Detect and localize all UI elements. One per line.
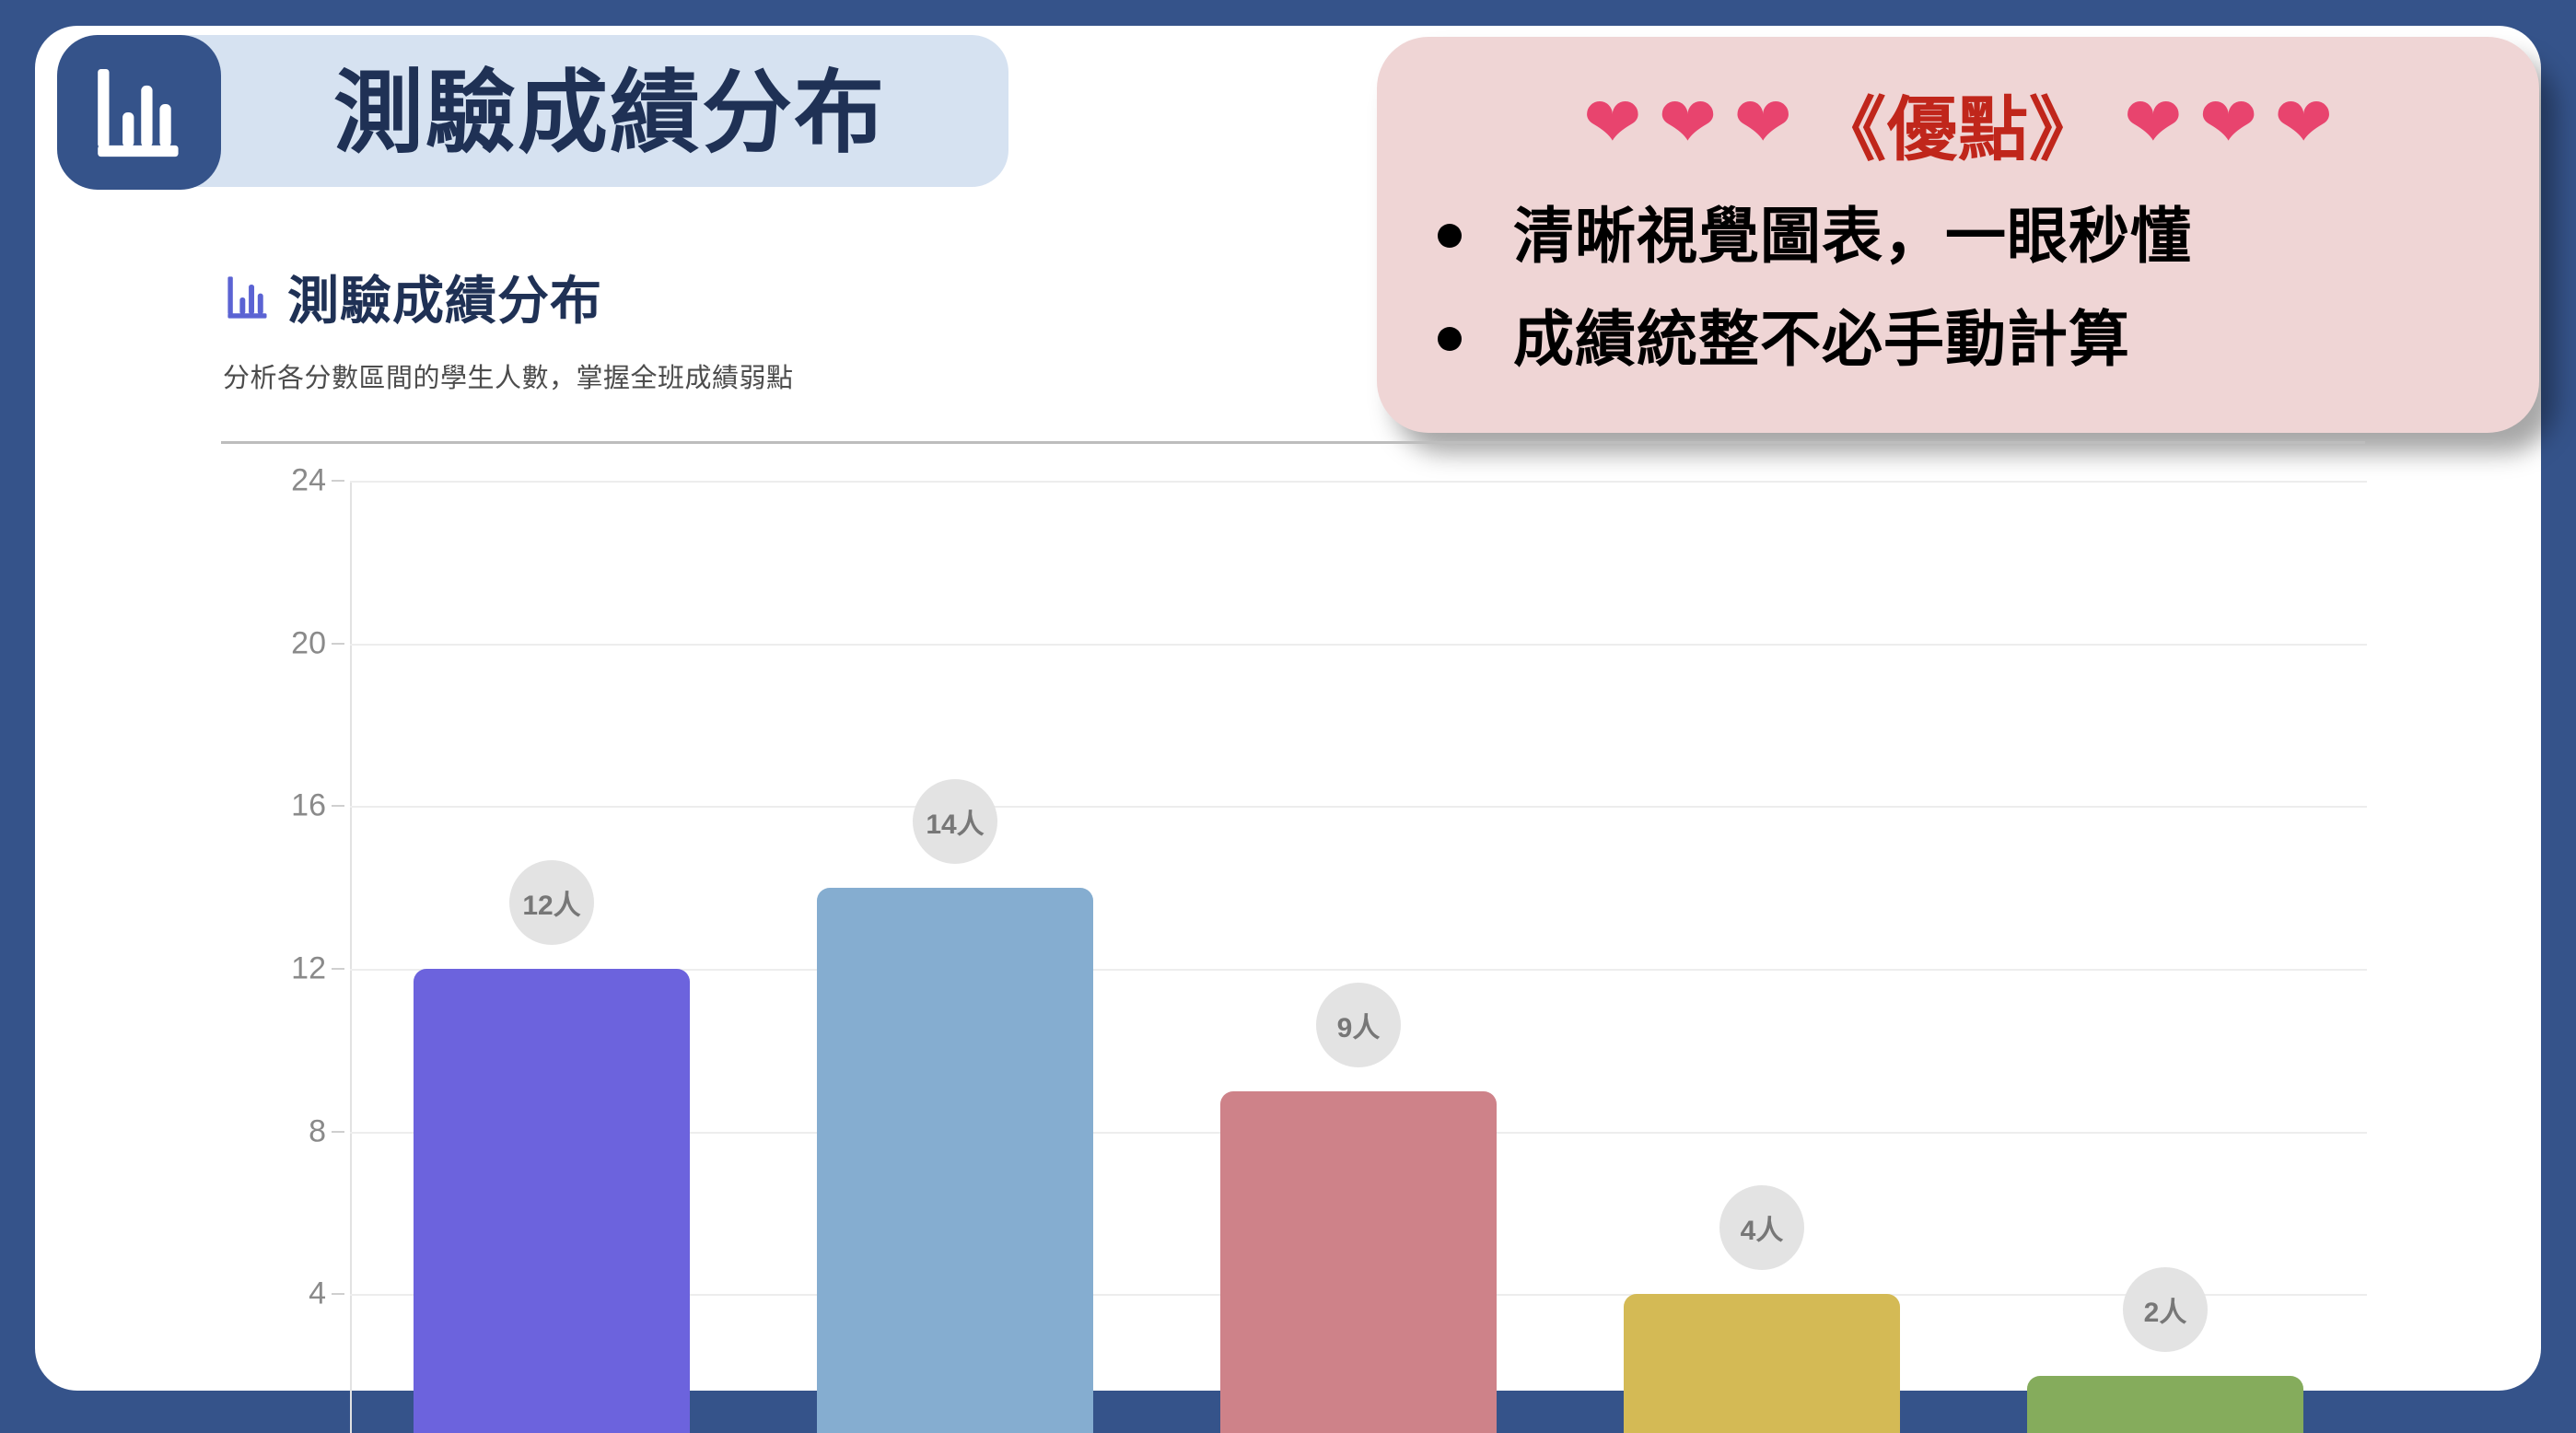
y-tick-label: 16	[221, 788, 326, 824]
bar-group[interactable]: 14人60 - 69 分	[753, 481, 1157, 1433]
y-tick-mark	[332, 1131, 344, 1133]
heart-icon: ❤	[2199, 88, 2258, 158]
bar-group[interactable]: 2人90 - 100 分	[1964, 481, 2367, 1433]
y-tick-mark	[332, 805, 344, 807]
bar-value-label: 4人	[1719, 1185, 1804, 1270]
plot-area: 04812162024 12人< 60分14人60 - 69 分9人70 - 7…	[221, 481, 2367, 1433]
bullet-icon	[1438, 224, 1462, 248]
bar-group[interactable]: 4人80 - 89 分	[1560, 481, 1964, 1433]
bar-value-label: 12人	[509, 860, 594, 945]
bar[interactable]	[1220, 1091, 1497, 1433]
bar-chart-icon	[223, 273, 273, 322]
y-tick-label: 20	[221, 625, 326, 661]
y-tick-mark	[332, 968, 344, 970]
header-icon-container	[57, 35, 221, 190]
bar[interactable]	[1624, 1294, 1900, 1433]
bars-layer: 12人< 60分14人60 - 69 分9人70 - 79 分4人80 - 89…	[350, 481, 2367, 1433]
y-tick-label: 8	[221, 1113, 326, 1149]
bar[interactable]	[2027, 1376, 2303, 1433]
y-tick-label: 4	[221, 1276, 326, 1312]
y-tick-mark	[332, 480, 344, 482]
bar-value-label: 9人	[1316, 983, 1401, 1067]
card-title: 測驗成績分布	[287, 260, 602, 334]
y-tick-label: 24	[221, 463, 326, 499]
y-tick-mark	[332, 643, 344, 645]
callout-heading-text: 《優點》	[1816, 73, 2100, 174]
y-tick-mark	[332, 1293, 344, 1295]
heart-icon: ❤	[1583, 88, 1642, 158]
bar[interactable]	[817, 888, 1093, 1433]
bar-group[interactable]: 9人70 - 79 分	[1157, 481, 1560, 1433]
heart-icon: ❤	[2274, 88, 2333, 158]
bar-value-label: 2人	[2123, 1267, 2208, 1352]
heart-icon: ❤	[2124, 88, 2183, 158]
bar[interactable]	[414, 969, 690, 1433]
page-title: 測驗成績分布	[333, 44, 886, 181]
chart-plot: 04812162024 12人< 60分14人60 - 69 分9人70 - 7…	[221, 481, 2367, 1433]
heart-icon: ❤	[1659, 88, 1718, 158]
chart-card: 測驗成績分布 分析各分數區間的學生人數，掌握全班成績弱點 04812162024…	[184, 260, 2395, 1337]
bar-chart-icon	[87, 61, 191, 164]
divider	[221, 441, 2365, 444]
card-title-row: 測驗成績分布	[223, 260, 2395, 334]
bar-value-label: 14人	[913, 779, 997, 864]
heart-icon: ❤	[1733, 88, 1792, 158]
callout-heading: ❤ ❤ ❤ 《優點》 ❤ ❤ ❤	[1414, 68, 2502, 179]
bar-group[interactable]: 12人< 60分	[350, 481, 753, 1433]
card-subtitle: 分析各分數區間的學生人數，掌握全班成績弱點	[223, 356, 2395, 395]
y-tick-label: 12	[221, 951, 326, 987]
